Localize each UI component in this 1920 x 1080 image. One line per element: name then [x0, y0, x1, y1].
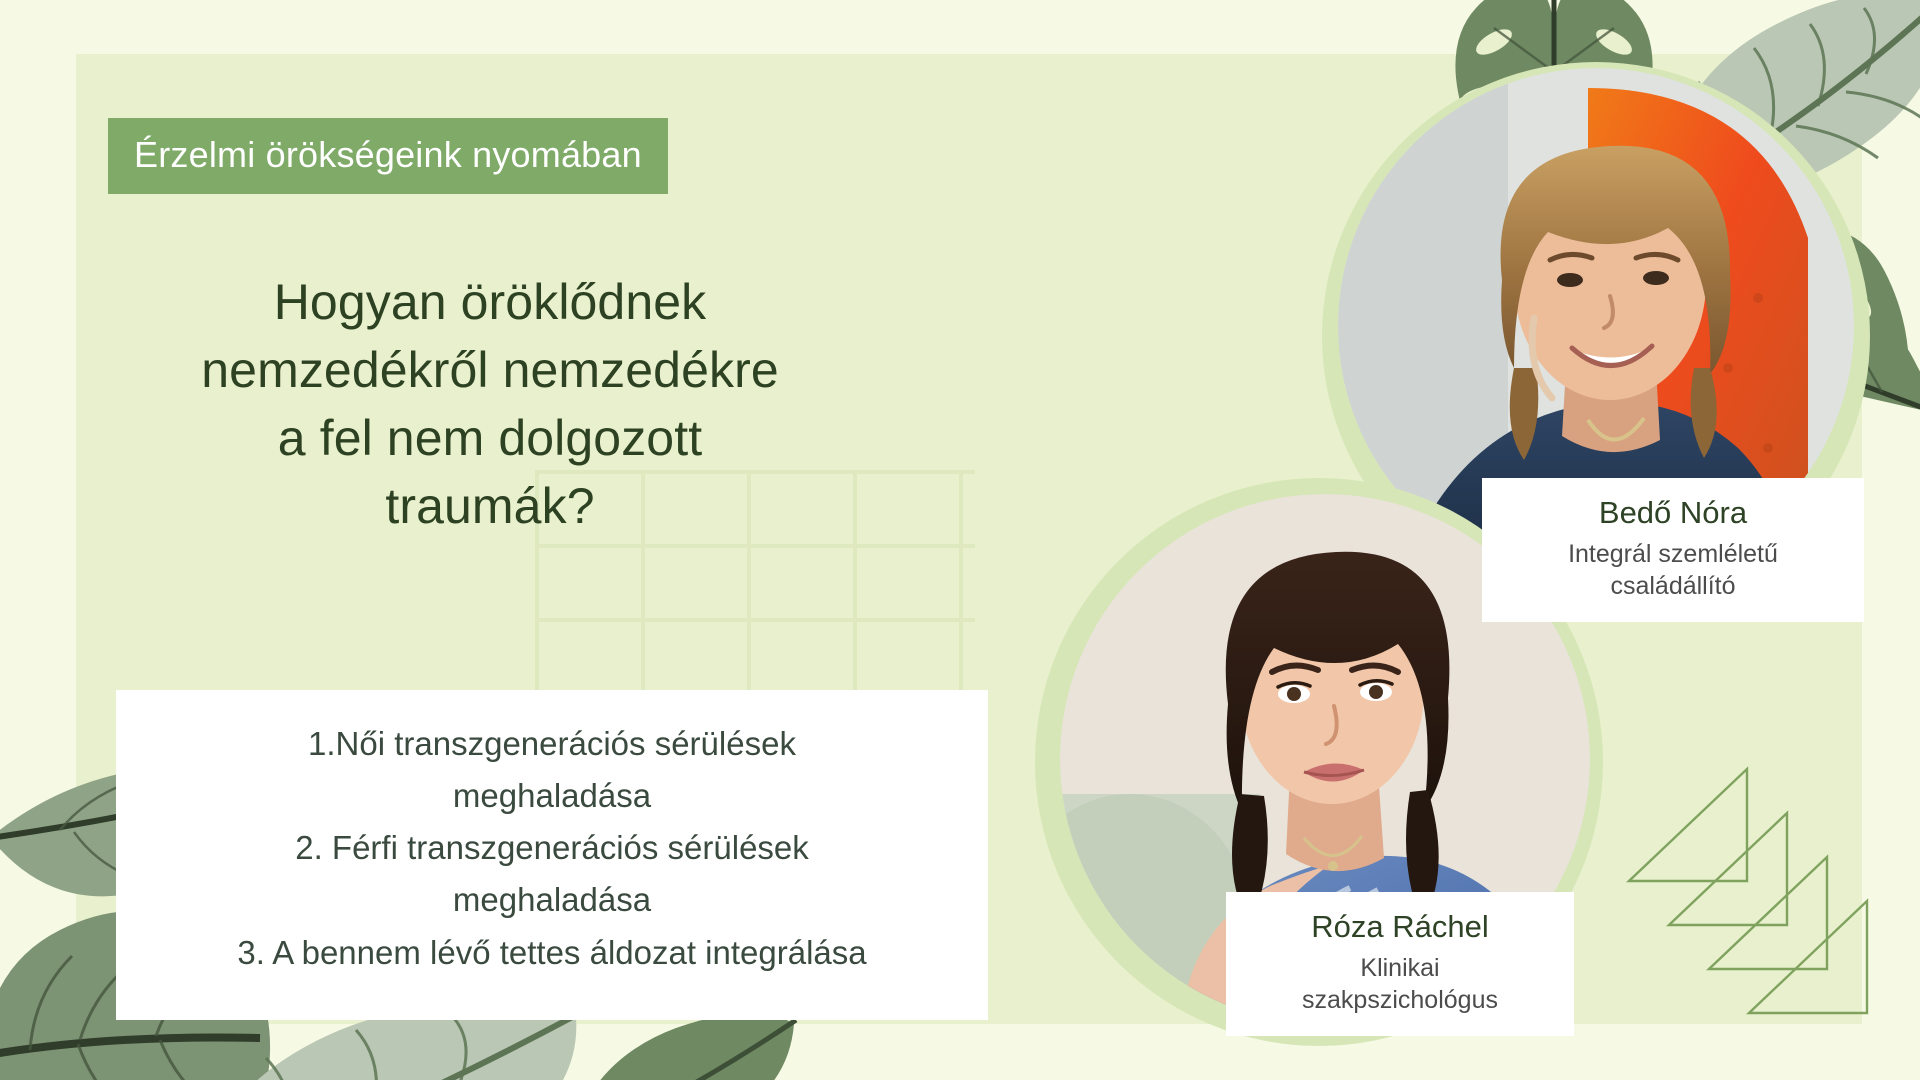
topics-card: 1.Női transzgenerációs sérülések meghala… [116, 690, 988, 1020]
headline-line-4: traumák? [104, 472, 876, 540]
headline-line-1: Hogyan öröklődnek [104, 268, 876, 336]
page-title: Hogyan öröklődnek nemzedékről nemzedékre… [104, 268, 876, 540]
headline-line-2: nemzedékről nemzedékre [104, 336, 876, 404]
list-item: 1.Női transzgenerációs sérülések [136, 718, 968, 770]
speaker-name: Bedő Nóra [1512, 494, 1834, 533]
speaker-name: Róza Ráchel [1256, 908, 1544, 947]
speaker-role-line-2: családállító [1512, 570, 1834, 602]
list-item: meghaladása [136, 770, 968, 822]
speaker-role-line-1: Integrál szemléletű [1512, 538, 1834, 570]
speaker-role-line-2: szakpszichológus [1256, 984, 1544, 1016]
eyebrow-label: Érzelmi örökségeink nyomában [134, 134, 642, 175]
triangle-decoration [1625, 755, 1920, 1015]
list-item: 2. Férfi transzgenerációs sérülések [136, 822, 968, 874]
list-item: 3. A bennem lévő tettes áldozat integrál… [136, 927, 968, 979]
list-item: meghaladása [136, 874, 968, 926]
speaker-nameplate-roza-rachel: Róza Ráchel Klinikai szakpszichológus [1226, 892, 1574, 1036]
headline-line-3: a fel nem dolgozott [104, 404, 876, 472]
slide-canvas: Érzelmi örökségeink nyomában Hogyan örök… [0, 0, 1920, 1080]
speaker-nameplate-bedo-nora: Bedő Nóra Integrál szemléletű családállí… [1482, 478, 1864, 622]
eyebrow-badge: Érzelmi örökségeink nyomában [108, 118, 668, 194]
speaker-role-line-1: Klinikai [1256, 952, 1544, 984]
